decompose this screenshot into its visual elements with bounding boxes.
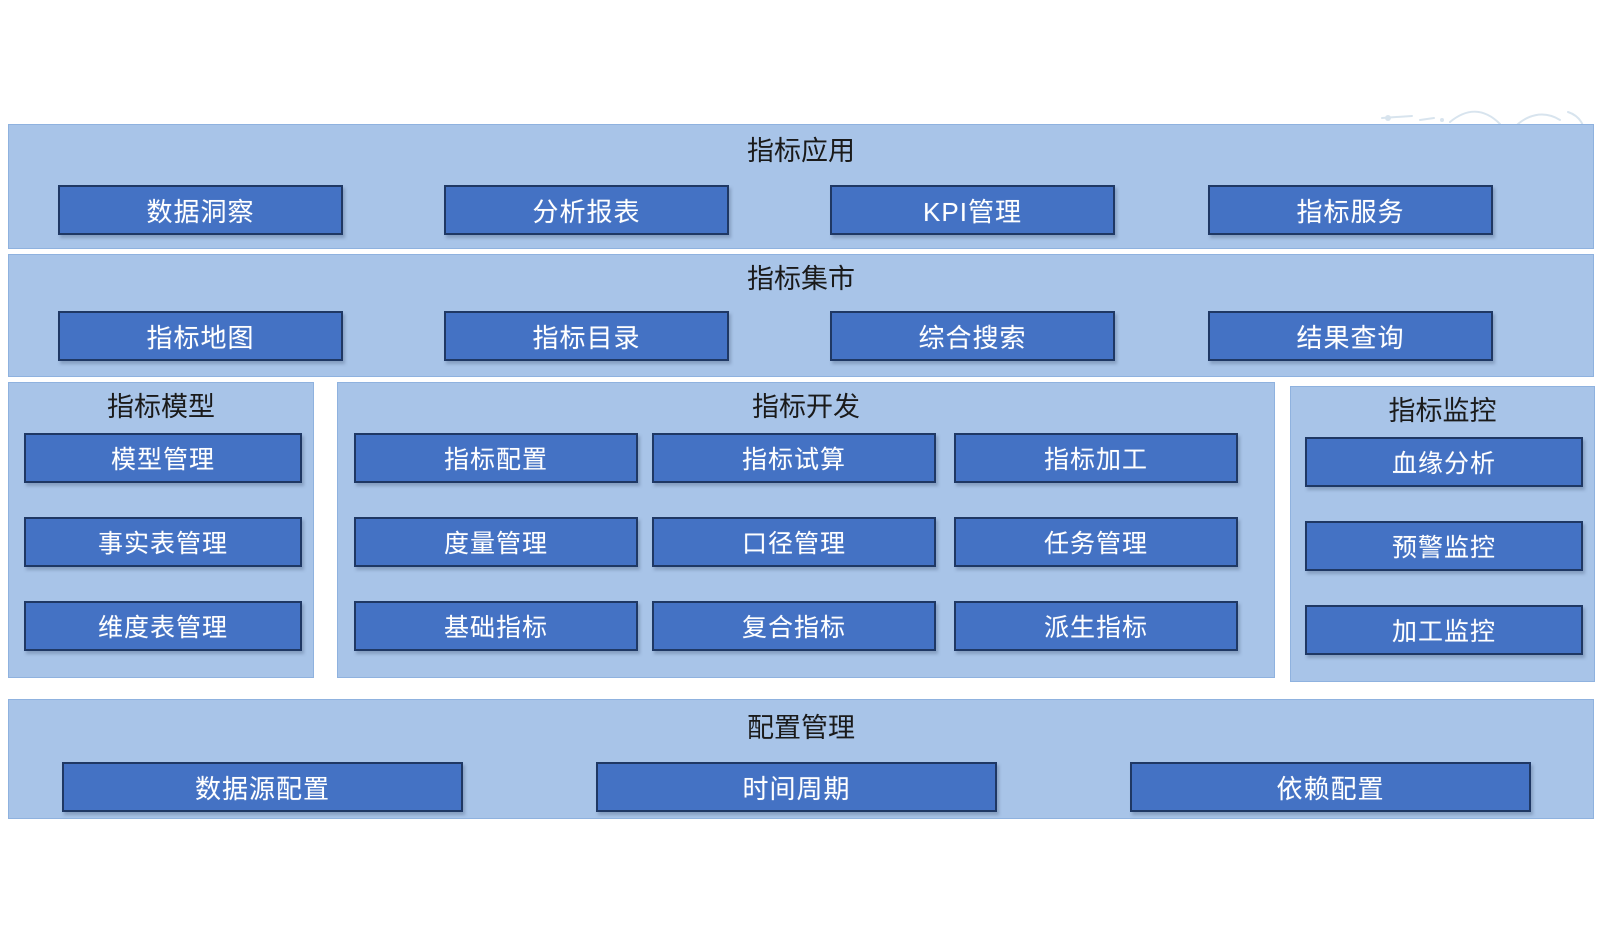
button-zhibiaojiagong[interactable]: 指标加工 — [954, 433, 1238, 483]
button-zhibiaopeizhi[interactable]: 指标配置 — [354, 433, 638, 483]
button-jieguochaxun[interactable]: 结果查询 — [1208, 311, 1493, 361]
layer-title-zhibiao-kaifa: 指标开发 — [338, 391, 1274, 423]
button-shishibiaoguanli[interactable]: 事实表管理 — [24, 517, 302, 567]
button-xueyuanfenxi[interactable]: 血缘分析 — [1305, 437, 1583, 487]
button-jichuzhibiao[interactable]: 基础指标 — [354, 601, 638, 651]
layer-title-peizhi-guanli: 配置管理 — [9, 712, 1593, 744]
button-zhibiaoditu[interactable]: 指标地图 — [58, 311, 343, 361]
button-zhibiaoshisuan[interactable]: 指标试算 — [652, 433, 936, 483]
button-zhibiaofuwu[interactable]: 指标服务 — [1208, 185, 1493, 235]
button-weidubiaoguanli[interactable]: 维度表管理 — [24, 601, 302, 651]
button-shujudongcha[interactable]: 数据洞察 — [58, 185, 343, 235]
layer-panel-zhibiao-jiankong: 指标监控 血缘分析 预警监控 加工监控 — [1290, 386, 1595, 682]
button-fenxibaobiao[interactable]: 分析报表 — [444, 185, 729, 235]
layer-panel-zhibiao-moxing: 指标模型 模型管理 事实表管理 维度表管理 — [8, 382, 314, 678]
layer-title-zhibiao-moxing: 指标模型 — [9, 391, 313, 423]
button-fuhezhibiao[interactable]: 复合指标 — [652, 601, 936, 651]
button-kpi-guanli[interactable]: KPI管理 — [830, 185, 1115, 235]
layer-panel-peizhi-guanli: 配置管理 数据源配置 时间周期 依赖配置 — [8, 699, 1594, 819]
button-zhibiaomulu[interactable]: 指标目录 — [444, 311, 729, 361]
button-moxingguanli[interactable]: 模型管理 — [24, 433, 302, 483]
button-yilaipeizhi[interactable]: 依赖配置 — [1130, 762, 1531, 812]
layer-title-zhibiao-yingyong: 指标应用 — [9, 135, 1593, 167]
button-zonghesousuo[interactable]: 综合搜索 — [830, 311, 1115, 361]
button-shijianzhouqi[interactable]: 时间周期 — [596, 762, 997, 812]
architecture-diagram-canvas: 指标应用 数据洞察 分析报表 KPI管理 指标服务 指标集市 指标地图 指标目录… — [0, 0, 1608, 940]
button-jiagongjiankong[interactable]: 加工监控 — [1305, 605, 1583, 655]
layer-panel-zhibiao-yingyong: 指标应用 数据洞察 分析报表 KPI管理 指标服务 — [8, 124, 1594, 249]
layer-panel-zhibiao-jishi: 指标集市 指标地图 指标目录 综合搜索 结果查询 — [8, 254, 1594, 377]
button-duliangguanli[interactable]: 度量管理 — [354, 517, 638, 567]
button-koujingguanli[interactable]: 口径管理 — [652, 517, 936, 567]
button-yujingjiankong[interactable]: 预警监控 — [1305, 521, 1583, 571]
layer-title-zhibiao-jishi: 指标集市 — [9, 263, 1593, 295]
layer-panel-zhibiao-kaifa: 指标开发 指标配置 度量管理 基础指标 指标试算 口径管理 复合指标 指标加工 … — [337, 382, 1275, 678]
button-paishengzhibiao[interactable]: 派生指标 — [954, 601, 1238, 651]
button-renwuguanli[interactable]: 任务管理 — [954, 517, 1238, 567]
layer-title-zhibiao-jiankong: 指标监控 — [1291, 395, 1594, 427]
button-shujuyuanpeizhi[interactable]: 数据源配置 — [62, 762, 463, 812]
